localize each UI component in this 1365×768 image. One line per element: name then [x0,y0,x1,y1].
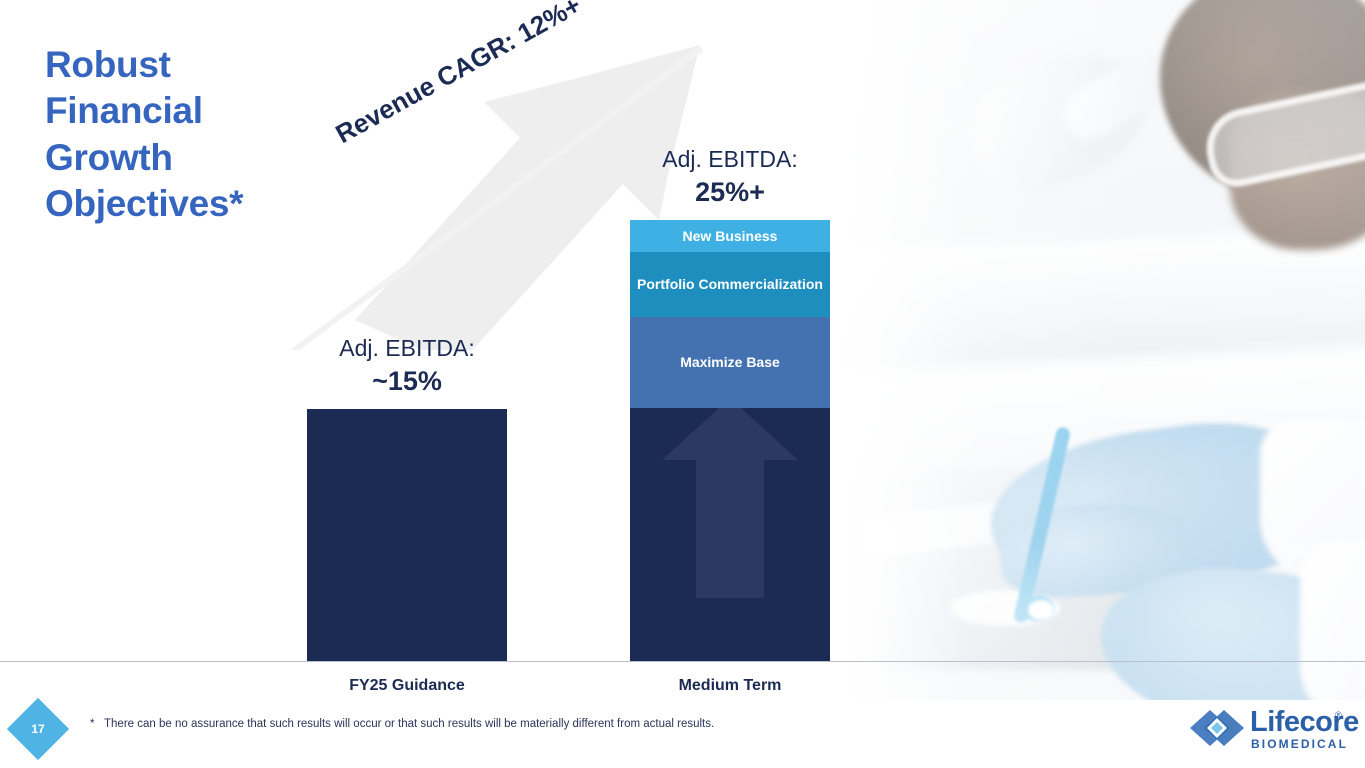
segment-portfolio-commercialization: Portfolio Commercialization [630,252,830,317]
page-number: 17 [16,707,60,751]
axis-label-fy25: FY25 Guidance [307,677,507,695]
fy25-caption: Adj. EBITDA: ~15% [307,335,507,397]
medium-term-bar: New Business Portfolio Commercialization… [630,220,830,661]
lifecore-wordmark: Lifecore [1250,706,1359,739]
segment-new-business: New Business [630,220,830,252]
fy25-caption-line1: Adj. EBITDA: [307,335,507,362]
fy25-bar [307,409,507,661]
upward-growth-arrow-icon [662,398,798,598]
segment-maximize-base-label: Maximize Base [680,353,780,372]
segment-maximize-base: Maximize Base [630,317,830,408]
medium-term-caption-line1: Adj. EBITDA: [630,146,830,173]
slide: Robust Financial Growth Objectives* Reve… [0,0,1365,768]
segment-new-business-label: New Business [683,227,778,246]
medium-term-caption: Adj. EBITDA: 25%+ [630,146,830,208]
fy25-caption-line2: ~15% [307,366,507,397]
lifecore-subtitle: BIOMEDICAL [1251,737,1348,751]
segment-portfolio-commercialization-label: Portfolio Commercialization [637,275,823,294]
lifecore-diamond-icon [1188,706,1246,754]
medium-term-caption-line2: 25%+ [630,177,830,208]
axis-label-medium-term: Medium Term [630,677,830,695]
lifecore-registered-mark: ® [1335,710,1342,720]
footnote: *There can be no assurance that such res… [90,718,714,730]
growth-chart: Adj. EBITDA: ~15% FY25 Guidance Adj. EBI… [0,0,1365,768]
chart-baseline [0,661,1365,662]
footnote-text: There can be no assurance that such resu… [104,718,714,730]
footnote-marker: * [90,718,104,730]
lifecore-logo: Lifecore ® BIOMEDICAL [1188,706,1348,754]
